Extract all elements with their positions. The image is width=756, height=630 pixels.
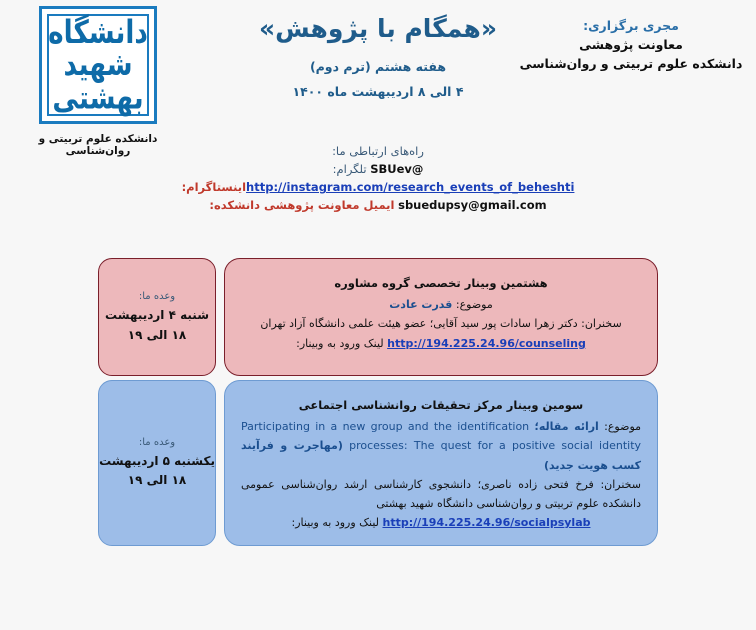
event-speaker-value: فرخ فتحی زاده ناصری؛ دانشجوی کارشناسی ار… (241, 478, 641, 510)
event-link-row: http://194.225.24.96/counseling لینک ورو… (241, 334, 641, 353)
event-speaker-label: سخنران: (581, 317, 622, 330)
contact-row-telegram: @SBUev تلگرام: (0, 160, 756, 178)
event-topic-english-line-2: quest for a positive social identity (441, 439, 641, 452)
date-box-time: ۱۸ الی ۱۹ (128, 471, 186, 490)
event-topic: موضوع: ارائه مقاله؛ Participating in a n… (241, 417, 641, 475)
event-title: سومین وبینار مرکز تحقیقات روانشناسی اجتم… (241, 395, 641, 415)
event-row: سومین وبینار مرکز تحقیقات روانشناسی اجتم… (0, 380, 756, 546)
date-range: ۴ الی ۸ اردیبهشت ماه ۱۴۰۰ (200, 84, 556, 99)
event-topic: موضوع: قدرت عادت (241, 295, 641, 314)
event-speaker-value: دکتر زهرا سادات پور سید آقایی؛ عضو هیئت … (260, 317, 577, 330)
contact-row-email: sbuedupsy@gmail.com ایمیل معاونت پژوهشی … (0, 196, 756, 214)
instagram-label: اینستاگرام: (182, 180, 246, 194)
university-logo-block: دانشگاه شهید بهشتی دانشکده علوم تربیتی و… (8, 6, 188, 157)
event-topic-value: قدرت عادت (389, 298, 452, 311)
telegram-label: تلگرام: (333, 162, 367, 176)
email-label: ایمیل معاونت پژوهشی دانشکده: (209, 198, 394, 212)
date-box-label: وعده ما: (139, 289, 175, 305)
event-date-box: وعده ما: یکشنبه ۵ اردیبهشت ۱۸ الی ۱۹ (98, 380, 216, 546)
organizer-line-1: معاونت پژوهشی (516, 35, 746, 54)
event-title: هشتمین وبینار تخصصی گروه مشاوره (241, 273, 641, 293)
poster-title-block: «همگام با پژوهش» هفته هشتم (ترم دوم) ۴ ا… (200, 14, 556, 99)
date-box-time: ۱۸ الی ۱۹ (128, 326, 186, 345)
contact-heading: راه‌های ارتباطی ما: (0, 142, 756, 160)
event-date-box: وعده ما: شنبه ۴ اردیبهشت ۱۸ الی ۱۹ (98, 258, 216, 376)
event-speaker-label: سخنران: (600, 478, 641, 491)
email-address[interactable]: sbuedupsy@gmail.com (398, 198, 546, 212)
event-link-label: لینک ورود به وبینار: (291, 516, 379, 529)
event-webinar-link[interactable]: http://194.225.24.96/counseling (387, 334, 586, 353)
week-subtitle: هفته هشتم (ترم دوم) (200, 59, 556, 74)
organizer-label: مجری برگزاری: (516, 16, 746, 35)
poster-header: دانشگاه شهید بهشتی دانشکده علوم تربیتی و… (0, 0, 756, 140)
date-box-day: یکشنبه ۵ اردیبهشت (99, 452, 215, 471)
event-card-socialpsylab: سومین وبینار مرکز تحقیقات روانشناسی اجتم… (224, 380, 658, 546)
events-list: هشتمین وبینار تخصصی گروه مشاوره موضوع: ق… (0, 258, 756, 550)
date-box-label: وعده ما: (139, 435, 175, 451)
date-box-day: شنبه ۴ اردیبهشت (105, 306, 209, 325)
page-title: «همگام با پژوهش» (200, 14, 556, 44)
organizer-block: مجری برگزاری: معاونت پژوهشی دانشکده علوم… (516, 16, 746, 73)
contact-section: راه‌های ارتباطی ما: @SBUev تلگرام: http:… (0, 142, 756, 215)
event-speaker: سخنران: فرخ فتحی زاده ناصری؛ دانشجوی کار… (241, 475, 641, 514)
event-speaker: سخنران: دکتر زهرا سادات پور سید آقایی؛ ع… (241, 314, 641, 333)
shahid-beheshti-university-logo-icon: دانشگاه شهید بهشتی (39, 6, 157, 124)
event-webinar-link[interactable]: http://194.225.24.96/socialpsylab (383, 513, 591, 532)
contact-row-instagram: http://instagram.com/research_events_of_… (0, 178, 756, 196)
event-link-label: لینک ورود به وبینار: (296, 337, 384, 350)
telegram-handle[interactable]: @SBUev (370, 162, 423, 176)
event-topic-label: موضوع: (604, 420, 641, 433)
logo-calligraphy-text: دانشگاه شهید بهشتی (39, 6, 157, 124)
organizer-line-2: دانشکده علوم تربیتی و روان‌شناسی (516, 54, 746, 73)
event-row: هشتمین وبینار تخصصی گروه مشاوره موضوع: ق… (0, 258, 756, 376)
event-link-row: http://194.225.24.96/socialpsylab لینک و… (241, 513, 641, 532)
event-card-counseling: هشتمین وبینار تخصصی گروه مشاوره موضوع: ق… (224, 258, 658, 376)
event-topic-value: ارائه مقاله؛ (534, 420, 598, 433)
event-topic-label: موضوع: (456, 298, 493, 311)
instagram-url-link[interactable]: http://instagram.com/research_events_of_… (246, 178, 574, 196)
